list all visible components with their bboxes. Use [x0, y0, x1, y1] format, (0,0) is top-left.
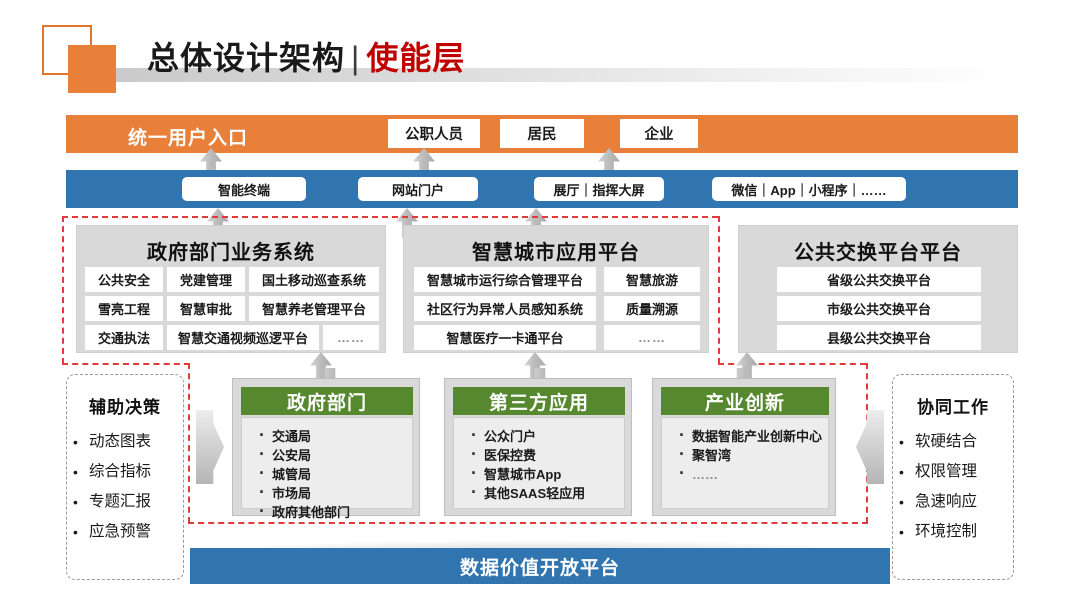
panel-gov-business-systems: 政府部门业务系统 公共安全 党建管理 国土移动巡查系统 雪亮工程 智慧审批 智慧… — [76, 225, 386, 353]
cell-smart-eldercare[interactable]: 智慧养老管理平台 — [249, 296, 379, 321]
audience-chip-enterprise[interactable]: 企业 — [620, 119, 698, 148]
card-title-gov-department: 政府部门 — [241, 387, 413, 415]
cell-xueliang-project[interactable]: 雪亮工程 — [85, 296, 163, 321]
chip-label: 居民 — [528, 123, 557, 144]
panel-public-exchange: 公共交换平台平台 省级公共交换平台 市级公共交换平台 县级公共交换平台 — [738, 225, 1018, 353]
channel-chip-wechat-app-miniprogram[interactable]: 微信｜App｜小程序｜…… — [712, 177, 906, 201]
arrow-left-collaborative-work — [856, 410, 884, 484]
panel-title: 智慧城市应用平台 — [404, 236, 708, 265]
list-item: 公众门户 — [470, 427, 624, 446]
audience-chip-civil-servant[interactable]: 公职人员 — [388, 119, 480, 148]
list-item: 应急预警 — [67, 517, 183, 547]
side-panel-collaborative-work: 协同工作 软硬结合 权限管理 急速响应 环境控制 — [892, 374, 1014, 580]
arrow-right-decision-support — [196, 410, 224, 484]
list-item: 医保控费 — [470, 446, 624, 465]
card-body-third-party-app: 公众门户 医保控费 智慧城市App 其他SAAS轻应用 — [453, 417, 625, 509]
chip-label: 微信｜App｜小程序｜…… — [731, 180, 886, 199]
bottom-bar-label: 数据价值开放平台 — [460, 553, 620, 580]
side-panel-title: 辅助决策 — [67, 393, 183, 418]
panel-smart-city-application: 智慧城市应用平台 智慧城市运行综合管理平台 智慧旅游 社区行为异常人员感知系统 … — [403, 225, 709, 353]
list-item: 城管局 — [258, 465, 412, 484]
list-item: 数据智能产业创新中心 — [678, 427, 828, 446]
cell-quality-trace[interactable]: 质量溯源 — [604, 296, 700, 321]
slide-canvas: 总体设计架构|使能层 统一用户入口 公职人员 居民 企业 智能终端 网站门户 展… — [0, 0, 1080, 608]
chip-label: 智能终端 — [218, 180, 270, 199]
cell-public-safety[interactable]: 公共安全 — [85, 267, 163, 292]
chip-label: 公职人员 — [405, 123, 463, 144]
chip-label: 展厅｜指挥大屏 — [553, 180, 644, 199]
card-third-party-app: 第三方应用 公众门户 医保控费 智慧城市App 其他SAAS轻应用 — [444, 378, 632, 516]
cell-land-patrol[interactable]: 国土移动巡查系统 — [249, 267, 379, 292]
panel-title: 政府部门业务系统 — [77, 236, 385, 265]
cell-county-exchange[interactable]: 县级公共交换平台 — [777, 325, 981, 350]
cell-more-ellipsis[interactable]: …… — [323, 325, 379, 350]
card-body-industry-innovation: 数据智能产业创新中心 聚智湾 …… — [661, 417, 829, 509]
bottom-bar-data-open-platform: 数据价值开放平台 — [190, 548, 890, 584]
unified-entry-label: 统一用户入口 — [128, 123, 248, 150]
panel-title: 公共交换平台平台 — [739, 236, 1017, 265]
list-item: 交通局 — [258, 427, 412, 446]
card-industry-innovation: 产业创新 数据智能产业创新中心 聚智湾 …… — [652, 378, 836, 516]
list-item: 综合指标 — [67, 457, 183, 487]
chip-label: 企业 — [645, 123, 674, 144]
list-item: …… — [678, 465, 828, 484]
card-title-industry-innovation: 产业创新 — [661, 387, 829, 415]
card-gov-department: 政府部门 交通局 公安局 城管局 市场局 政府其他部门 — [232, 378, 420, 516]
cell-smart-approval[interactable]: 智慧审批 — [167, 296, 245, 321]
list-item: 权限管理 — [893, 457, 1013, 487]
page-title-separator: | — [351, 40, 360, 76]
cell-smart-tourism[interactable]: 智慧旅游 — [604, 267, 700, 292]
list-item: 公安局 — [258, 446, 412, 465]
list-item: 专题汇报 — [67, 487, 183, 517]
list-item: 聚智湾 — [678, 446, 828, 465]
header-square-filled-icon — [68, 45, 116, 93]
list-item: 急速响应 — [893, 487, 1013, 517]
cell-party-building[interactable]: 党建管理 — [167, 267, 245, 292]
channel-chip-web-portal[interactable]: 网站门户 — [358, 177, 478, 201]
cell-city-ops-mgmt[interactable]: 智慧城市运行综合管理平台 — [414, 267, 596, 292]
channel-chip-smart-terminal[interactable]: 智能终端 — [182, 177, 306, 201]
audience-chip-resident[interactable]: 居民 — [500, 119, 584, 148]
cell-provincial-exchange[interactable]: 省级公共交换平台 — [777, 267, 981, 292]
page-title-main: 总体设计架构 — [147, 40, 345, 76]
list-item: 市场局 — [258, 484, 412, 503]
chip-label: 网站门户 — [392, 180, 444, 199]
card-title-third-party-app: 第三方应用 — [453, 387, 625, 415]
list-item: 软硬结合 — [893, 427, 1013, 457]
cell-community-anomaly[interactable]: 社区行为异常人员感知系统 — [414, 296, 596, 321]
cell-municipal-exchange[interactable]: 市级公共交换平台 — [777, 296, 981, 321]
side-panel-title: 协同工作 — [893, 393, 1013, 418]
cell-traffic-enforcement[interactable]: 交通执法 — [85, 325, 163, 350]
page-title: 总体设计架构|使能层 — [147, 33, 465, 79]
list-item: 动态图表 — [67, 427, 183, 457]
channel-chip-exhibition-screen[interactable]: 展厅｜指挥大屏 — [534, 177, 664, 201]
list-item: 环境控制 — [893, 517, 1013, 547]
cell-medical-card[interactable]: 智慧医疗一卡通平台 — [414, 325, 596, 350]
list-item: 政府其他部门 — [258, 503, 412, 522]
side-panel-decision-support: 辅助决策 动态图表 综合指标 专题汇报 应急预警 — [66, 374, 184, 580]
cell-more-ellipsis[interactable]: …… — [604, 325, 700, 350]
cell-smart-traffic-video[interactable]: 智慧交通视频巡逻平台 — [167, 325, 319, 350]
list-item: 其他SAAS轻应用 — [470, 484, 624, 503]
page-title-accent: 使能层 — [366, 40, 465, 76]
list-item: 智慧城市App — [470, 465, 624, 484]
card-body-gov-department: 交通局 公安局 城管局 市场局 政府其他部门 — [241, 417, 413, 509]
